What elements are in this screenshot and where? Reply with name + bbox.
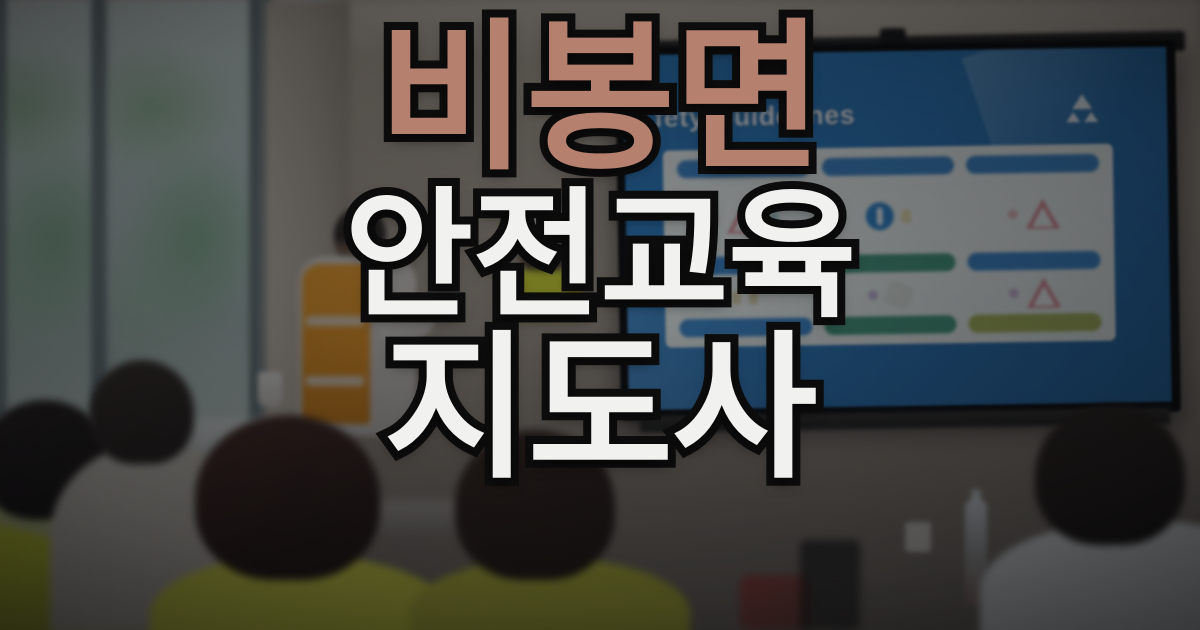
photo-darkening-overlay	[0, 0, 1200, 630]
thumbnail-canvas: fety Guidelines	[0, 0, 1200, 630]
background-photo: fety Guidelines	[0, 0, 1200, 630]
